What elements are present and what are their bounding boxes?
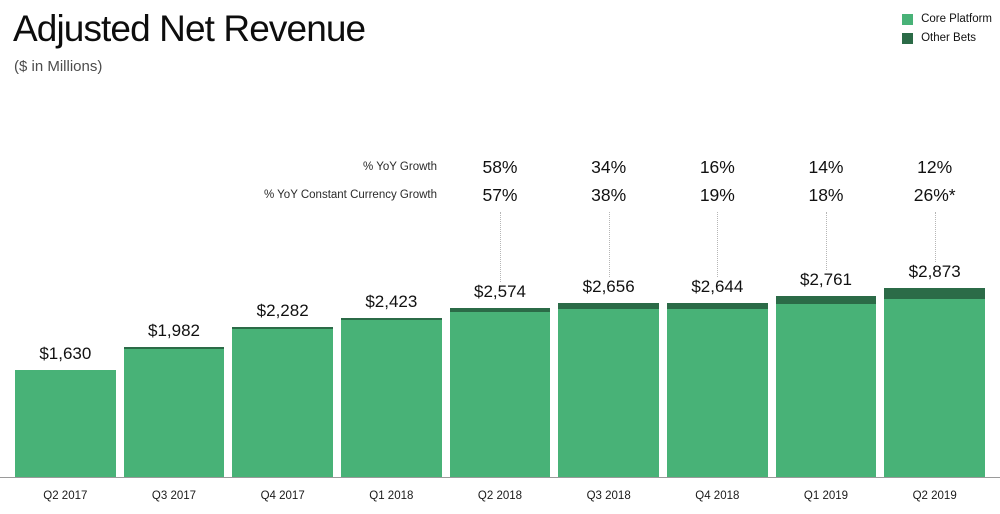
bar-group[interactable]: $2,423Q1 2018 <box>341 0 442 514</box>
bar-segment-core-platform[interactable] <box>15 370 116 477</box>
bar-group[interactable]: $2,282Q4 2017 <box>232 0 333 514</box>
bar-segment-core-platform[interactable] <box>341 320 442 477</box>
bar-segment-other-bets[interactable] <box>558 303 659 309</box>
leader-line <box>826 212 827 270</box>
x-axis-category-label: Q2 2017 <box>43 490 87 502</box>
leader-line <box>717 212 718 277</box>
annotation-value-yoy-growth: 12% <box>917 157 952 178</box>
bar[interactable] <box>124 347 225 477</box>
bar-value-label: $2,873 <box>909 262 961 282</box>
bar-group[interactable]: $1,982Q3 2017 <box>124 0 225 514</box>
bar-group[interactable]: $2,761Q1 201914%18% <box>776 0 877 514</box>
bar[interactable] <box>884 288 985 477</box>
bar-segment-core-platform[interactable] <box>558 309 659 477</box>
bar[interactable] <box>232 327 333 477</box>
bar-value-label: $2,282 <box>257 301 309 321</box>
bar-value-label: $2,656 <box>583 277 635 297</box>
bar-segment-other-bets[interactable] <box>124 347 225 349</box>
bar[interactable] <box>776 296 877 477</box>
leader-line <box>609 212 610 277</box>
bar-segment-other-bets[interactable] <box>341 318 442 320</box>
bar-group[interactable]: $2,656Q3 201834%38% <box>558 0 659 514</box>
x-axis-category-label: Q3 2017 <box>152 490 196 502</box>
bar[interactable] <box>450 308 551 477</box>
bar-value-label: $2,761 <box>800 270 852 290</box>
annotation-value-yoy-cc-growth: 18% <box>808 185 843 206</box>
bar-segment-other-bets[interactable] <box>776 296 877 304</box>
plot-area: $1,630Q2 2017$1,982Q3 2017$2,282Q4 2017$… <box>0 0 1000 514</box>
annotation-value-yoy-cc-growth: 57% <box>482 185 517 206</box>
annotation-value-yoy-cc-growth: 19% <box>700 185 735 206</box>
bar-segment-core-platform[interactable] <box>124 349 225 477</box>
annotation-value-yoy-cc-growth: 38% <box>591 185 626 206</box>
bar-segment-core-platform[interactable] <box>884 299 985 477</box>
bar-value-label: $1,982 <box>148 321 200 341</box>
bar-segment-other-bets[interactable] <box>232 327 333 329</box>
bar-value-label: $1,630 <box>39 344 91 364</box>
leader-line <box>935 212 936 262</box>
x-axis-category-label: Q2 2019 <box>913 490 957 502</box>
bar-segment-other-bets[interactable] <box>450 308 551 312</box>
bar-group[interactable]: $2,574Q2 201858%57% <box>450 0 551 514</box>
annotation-value-yoy-growth: 58% <box>482 157 517 178</box>
bar-segment-core-platform[interactable] <box>450 312 551 477</box>
x-axis-category-label: Q1 2018 <box>369 490 413 502</box>
bar-segment-other-bets[interactable] <box>667 303 768 309</box>
x-axis-category-label: Q4 2018 <box>695 490 739 502</box>
chart-canvas: Adjusted Net Revenue ($ in Millions) Cor… <box>0 0 1000 514</box>
x-axis-category-label: Q4 2017 <box>261 490 305 502</box>
bar-value-label: $2,423 <box>365 292 417 312</box>
bar-segment-core-platform[interactable] <box>232 329 333 477</box>
x-axis-line <box>0 477 1000 478</box>
bar-segment-core-platform[interactable] <box>776 304 877 477</box>
annotation-value-yoy-growth: 16% <box>700 157 735 178</box>
bar-value-label: $2,644 <box>691 277 743 297</box>
annotation-value-yoy-growth: 14% <box>808 157 843 178</box>
x-axis-category-label: Q1 2019 <box>804 490 848 502</box>
bar[interactable] <box>667 303 768 477</box>
bar-group[interactable]: $1,630Q2 2017 <box>15 0 116 514</box>
annotation-value-yoy-cc-growth: 26%* <box>914 185 956 206</box>
x-axis-category-label: Q3 2018 <box>587 490 631 502</box>
leader-line <box>500 212 501 282</box>
bar[interactable] <box>15 370 116 477</box>
bar[interactable] <box>341 318 442 477</box>
bar-segment-core-platform[interactable] <box>667 309 768 477</box>
bar-group[interactable]: $2,644Q4 201816%19% <box>667 0 768 514</box>
bar-segment-other-bets[interactable] <box>884 288 985 299</box>
bar-group[interactable]: $2,873Q2 201912%26%* <box>884 0 985 514</box>
bar[interactable] <box>558 303 659 477</box>
bar-value-label: $2,574 <box>474 282 526 302</box>
annotation-value-yoy-growth: 34% <box>591 157 626 178</box>
x-axis-category-label: Q2 2018 <box>478 490 522 502</box>
